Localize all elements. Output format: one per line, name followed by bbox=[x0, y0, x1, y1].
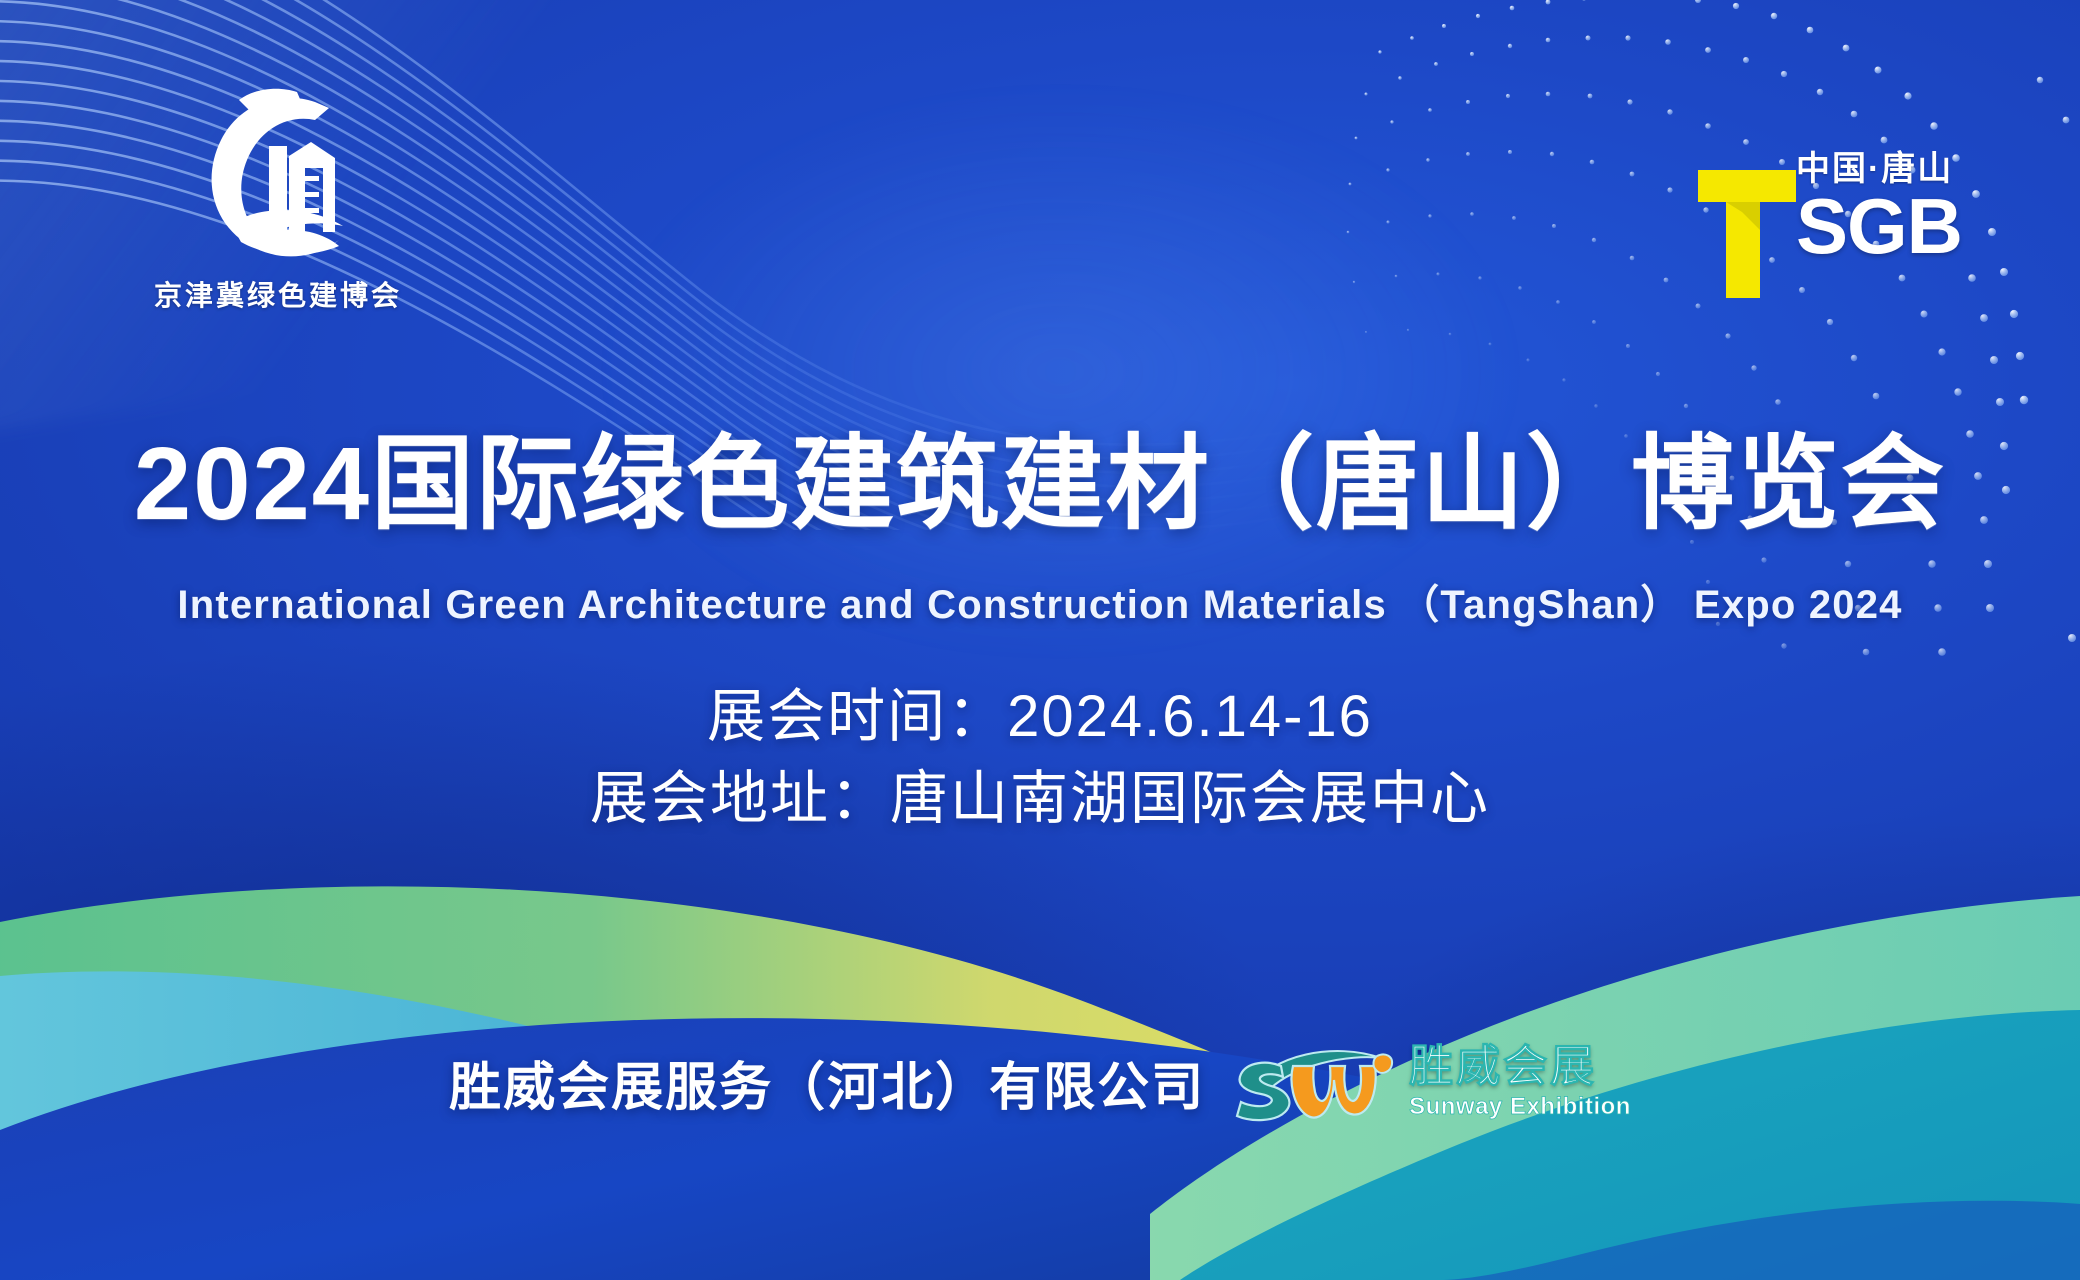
tsgb-t-mark-icon bbox=[1696, 166, 1798, 302]
expo-banner: 京津冀绿色建博会 中国·唐山 SGB 2024国际绿色建筑建材（唐山）博览会 I… bbox=[0, 0, 2080, 1280]
tsgb-logo: 中国·唐山 SGB bbox=[1696, 152, 1962, 302]
event-venue-line: 展会地址：唐山南湖国际会展中心 bbox=[0, 758, 2080, 840]
page-subtitle-english: International Green Architecture and Con… bbox=[0, 572, 2080, 630]
sunway-name-cn: 胜威会展 bbox=[1409, 1045, 1631, 1089]
organizer-company-name: 胜威会展服务（河北）有限公司 bbox=[449, 1045, 1205, 1120]
event-info: 展会时间：2024.6.14-16 展会地址：唐山南湖国际会展中心 bbox=[0, 676, 2080, 841]
tsgb-city-line: 中国·唐山 bbox=[1796, 152, 1962, 186]
expo-logo: 京津冀绿色建博会 bbox=[128, 72, 428, 314]
expo-logo-mark-icon bbox=[183, 72, 373, 272]
page-title: 2024国际绿色建筑建材（唐山）博览会 bbox=[0, 428, 2080, 539]
sunway-sw-monogram-icon bbox=[1231, 1036, 1399, 1128]
event-date-line: 展会时间：2024.6.14-16 bbox=[0, 676, 2080, 758]
expo-logo-caption: 京津冀绿色建博会 bbox=[128, 274, 428, 314]
sunway-name-en: Sunway Exhibition bbox=[1409, 1095, 1631, 1119]
sunway-logo: 胜威会展 Sunway Exhibition bbox=[1231, 1036, 1631, 1128]
footer: 胜威会展服务（河北）有限公司 胜威会展 bbox=[0, 1036, 2080, 1128]
tsgb-abbrev: SGB bbox=[1796, 192, 1962, 261]
